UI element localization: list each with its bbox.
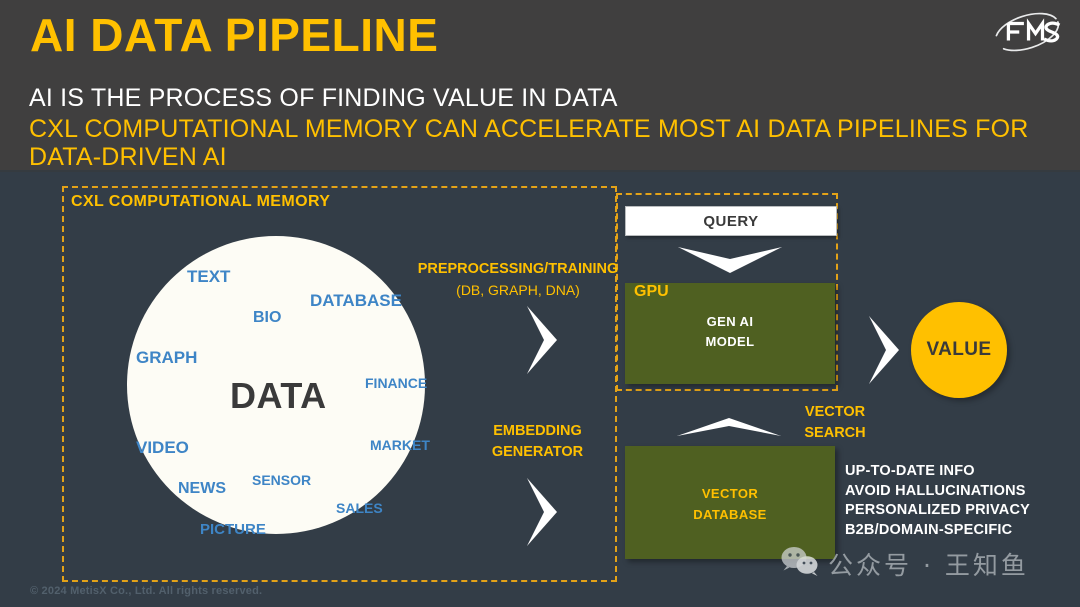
preprocessing-line1: PREPROCESSING/TRAINING	[403, 259, 633, 280]
gen-ai-line1: GEN AI	[625, 312, 835, 332]
vector-search-line2: SEARCH	[785, 423, 885, 444]
data-word-sales: SALES	[336, 500, 383, 516]
wechat-watermark: 公众号 · 王知鱼	[780, 545, 1029, 583]
data-word-database: DATABASE	[310, 291, 402, 311]
subtitle-primary: AI IS THE PROCESS OF FINDING VALUE IN DA…	[29, 84, 618, 113]
embedding-line1: EMBEDDING	[460, 421, 615, 442]
data-center-word: DATA	[230, 375, 327, 417]
watermark-text: 公众号 · 王知鱼	[828, 546, 1029, 582]
data-word-sensor: SENSOR	[252, 472, 311, 488]
cxl-group-label: CXL COMPUTATIONAL MEMORY	[71, 193, 330, 211]
data-word-market: MARKET	[370, 437, 430, 453]
data-word-bio: BIO	[253, 309, 281, 327]
value-circle: VALUE	[911, 302, 1007, 398]
vector-db-line2: DATABASE	[625, 504, 835, 525]
value-arrow-icon	[869, 316, 899, 384]
data-word-text: TEXT	[187, 267, 230, 287]
embedding-line2: GENERATOR	[460, 442, 615, 463]
benefit-item: PERSONALIZED PRIVACY	[845, 501, 1030, 521]
benefit-item: UP-TO-DATE INFO	[845, 462, 1030, 482]
embedding-generator-label: EMBEDDING GENERATOR	[460, 421, 615, 463]
vector-database-label: VECTOR DATABASE	[625, 483, 835, 525]
vector-search-up-arrow-icon	[677, 418, 781, 436]
benefits-list: UP-TO-DATE INFOAVOID HALLUCINATIONSPERSO…	[845, 462, 1030, 540]
data-word-picture: PICTURE	[200, 521, 266, 538]
fms-logo-icon	[988, 8, 1066, 56]
vector-search-line1: VECTOR	[785, 402, 885, 423]
subtitle-secondary: CXL COMPUTATIONAL MEMORY CAN ACCELERATE …	[29, 115, 1029, 171]
benefit-item: AVOID HALLUCINATIONS	[845, 482, 1030, 502]
vector-db-line1: VECTOR	[625, 483, 835, 504]
data-word-news: NEWS	[178, 480, 226, 498]
data-word-graph: GRAPH	[136, 348, 197, 368]
preprocessing-arrow-icon	[527, 306, 557, 374]
slide-header: AI DATA PIPELINE AI IS THE PROCESS OF FI…	[0, 0, 1080, 172]
page-title: AI DATA PIPELINE	[30, 8, 438, 62]
vector-search-label: VECTOR SEARCH	[785, 402, 885, 444]
preprocessing-label: PREPROCESSING/TRAINING (DB, GRAPH, DNA)	[403, 259, 633, 301]
copyright-footer: © 2024 MetisX Co., Ltd. All rights reser…	[30, 585, 262, 597]
wechat-icon	[780, 545, 820, 583]
gen-ai-model-label: GEN AI MODEL	[625, 312, 835, 352]
query-box[interactable]: QUERY	[625, 206, 837, 236]
query-down-arrow-icon	[678, 247, 782, 273]
data-word-finance: FINANCE	[365, 375, 427, 391]
embedding-arrow-icon	[527, 478, 557, 546]
preprocessing-line2: (DB, GRAPH, DNA)	[403, 280, 633, 301]
slide-canvas: AI DATA PIPELINE AI IS THE PROCESS OF FI…	[0, 0, 1080, 607]
gpu-label: GPU	[634, 283, 669, 301]
benefit-item: B2B/DOMAIN-SPECIFIC	[845, 521, 1030, 541]
gen-ai-line2: MODEL	[625, 332, 835, 352]
data-word-video: VIDEO	[136, 438, 189, 458]
